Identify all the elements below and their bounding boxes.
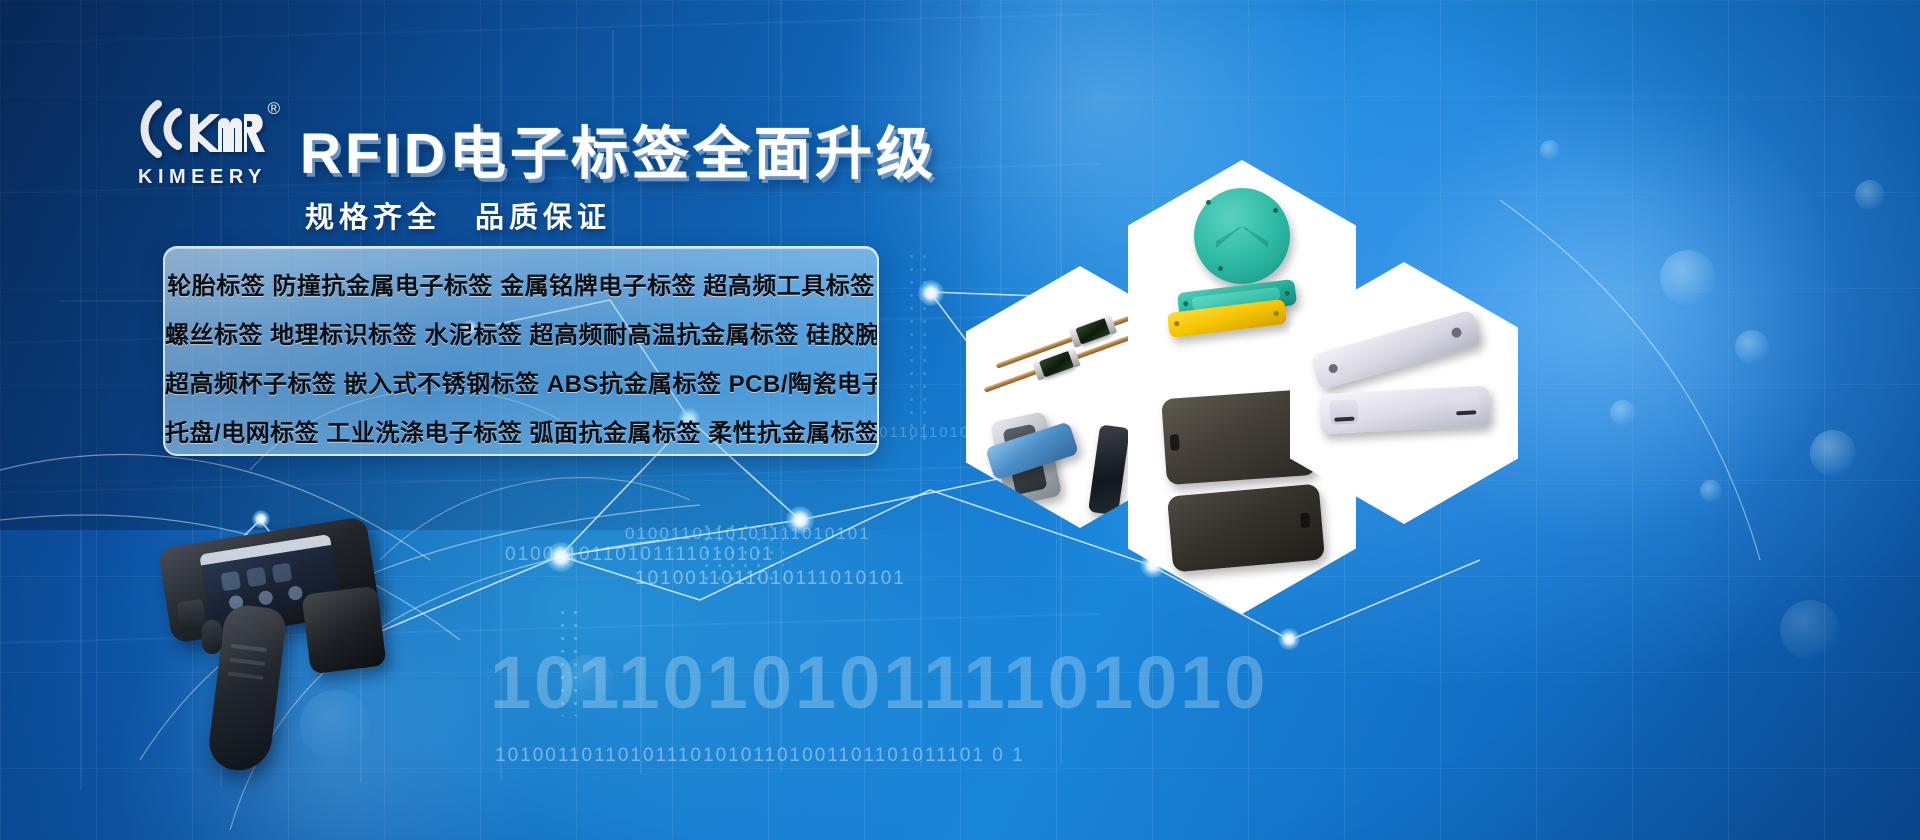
circuit-dots [905,250,933,450]
network-node [546,542,576,572]
circuit-dots [700,520,784,586]
binary-text: 1010011011010111010101101001101101011101… [495,745,1025,767]
subtitle-left: 规格齐全 [305,202,441,234]
binary-text: 1010011011010111010101 [635,568,906,590]
subtitle-right: 品质保证 [475,202,611,234]
bokeh-dot [1735,330,1769,364]
bokeh-dot [1810,430,1856,476]
tag-row: 轮胎标签 防撞抗金属电子标签 金属铭牌电子标签 超高频工具标签 [165,262,877,311]
handheld-rfid-reader [158,498,388,828]
product-tag-list-panel: 轮胎标签 防撞抗金属电子标签 金属铭牌电子标签 超高频工具标签 螺丝标签 地理标… [163,246,879,456]
brand-wordmark: KIMEERY [138,166,288,189]
binary-text-large: 101101010111101010 [490,640,1268,725]
binary-text: 0100110110101111010101 [505,544,774,566]
bokeh-dot [560,655,614,709]
network-node [1278,628,1300,650]
tag-row: 螺丝标签 地理标识标签 水泥标签 超高频耐高温抗金属标签 硅胶腕带 [165,311,877,360]
brand-logo: ® KIMEERY [138,98,288,189]
rfid-promo-banner: 10100110110101111010101 0100110110101111… [0,0,1920,840]
binary-text: 0100110110101111010101 [625,524,871,544]
bokeh-dot [1700,480,1722,502]
network-node [786,506,814,534]
bokeh-dot [1540,140,1560,160]
page-title: RFID电子标签全面升级 [300,108,937,190]
bokeh-dot [1855,180,1885,210]
tag-row: 超高频杯子标签 嵌入式不锈钢标签 ABS抗金属标签 PCB/陶瓷电子标签 [165,360,877,409]
registered-trademark-icon: ® [267,100,280,117]
bokeh-dot [1660,250,1716,306]
subtitle: 规格齐全品质保证 [305,194,611,236]
circuit-dots [556,606,582,716]
bokeh-dot [1780,600,1840,660]
kimeery-signal-logo-icon: ® [138,98,266,160]
circuit-line [1000,0,1002,300]
network-node [918,280,944,306]
tag-row: 托盘/电网标签 工业洗涤电子标签 弧面抗金属标签 柔性抗金属标签 [165,409,877,456]
bokeh-dot [1610,400,1636,426]
